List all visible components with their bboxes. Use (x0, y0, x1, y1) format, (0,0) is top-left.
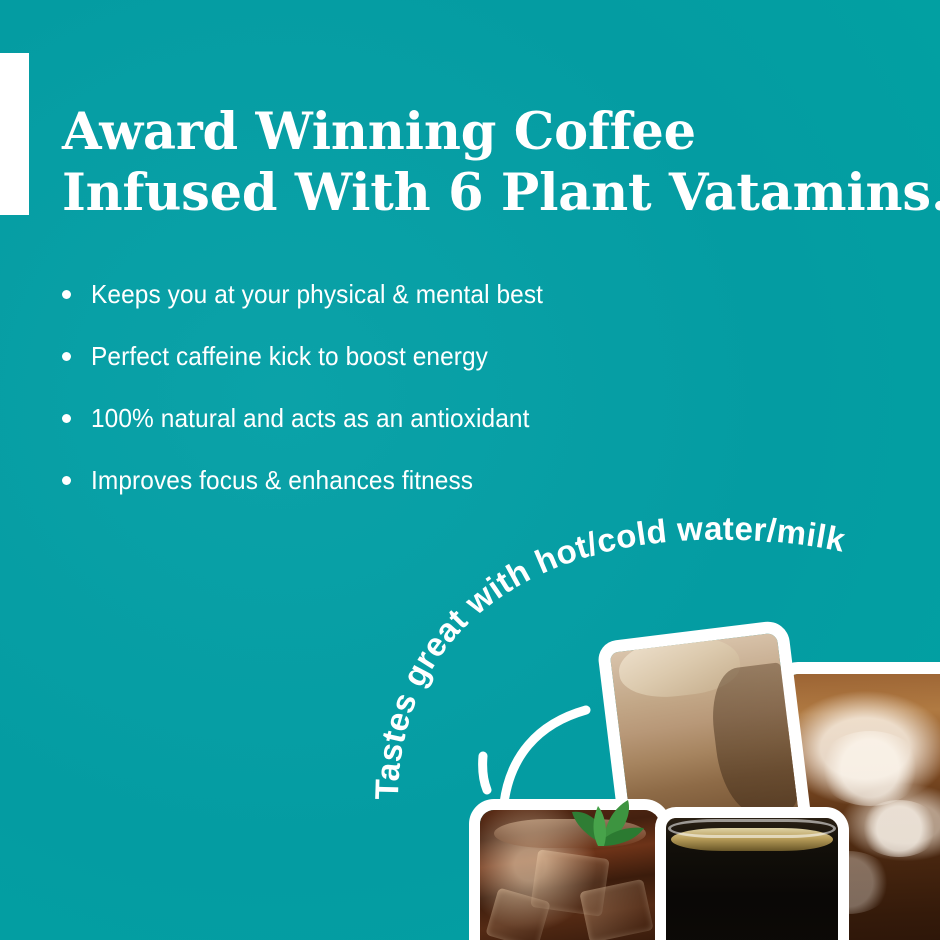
list-item: 100% natural and acts as an antioxidant (58, 387, 572, 449)
accent-bar (0, 53, 29, 215)
promo-poster: Award Winning CoffeeInfused With 6 Plant… (0, 0, 940, 940)
bullet-dot-icon (62, 290, 71, 299)
cream-swirl (859, 800, 940, 857)
list-item: Perfect caffeine kick to boost energy (58, 325, 572, 387)
headline-line-1: Award Winning Coffee (62, 102, 882, 163)
bullet-dot-icon (62, 476, 71, 485)
page-title: Award Winning CoffeeInfused With 6 Plant… (62, 102, 882, 224)
cream-swirl (818, 731, 922, 805)
benefit-text: 100% natural and acts as an antioxidant (91, 403, 529, 434)
glass-rim (668, 819, 837, 837)
headline-line-2: Infused With 6 Plant Vatamins. (62, 163, 882, 224)
bullet-dot-icon (62, 414, 71, 423)
iced-coffee-with-mint-image (480, 810, 660, 940)
benefit-text: Perfect caffeine kick to boost energy (91, 341, 488, 372)
benefit-text: Keeps you at your physical & mental best (91, 279, 543, 310)
list-item: Improves focus & enhances fitness (58, 449, 572, 511)
list-item: Keeps you at your physical & mental best (58, 263, 572, 325)
benefits-list: Keeps you at your physical & mental best… (58, 263, 572, 511)
black-coffee-glass-image (666, 818, 838, 940)
benefit-text: Improves focus & enhances fitness (91, 465, 473, 496)
bullet-dot-icon (62, 352, 71, 361)
product-image-cluster (470, 600, 940, 940)
